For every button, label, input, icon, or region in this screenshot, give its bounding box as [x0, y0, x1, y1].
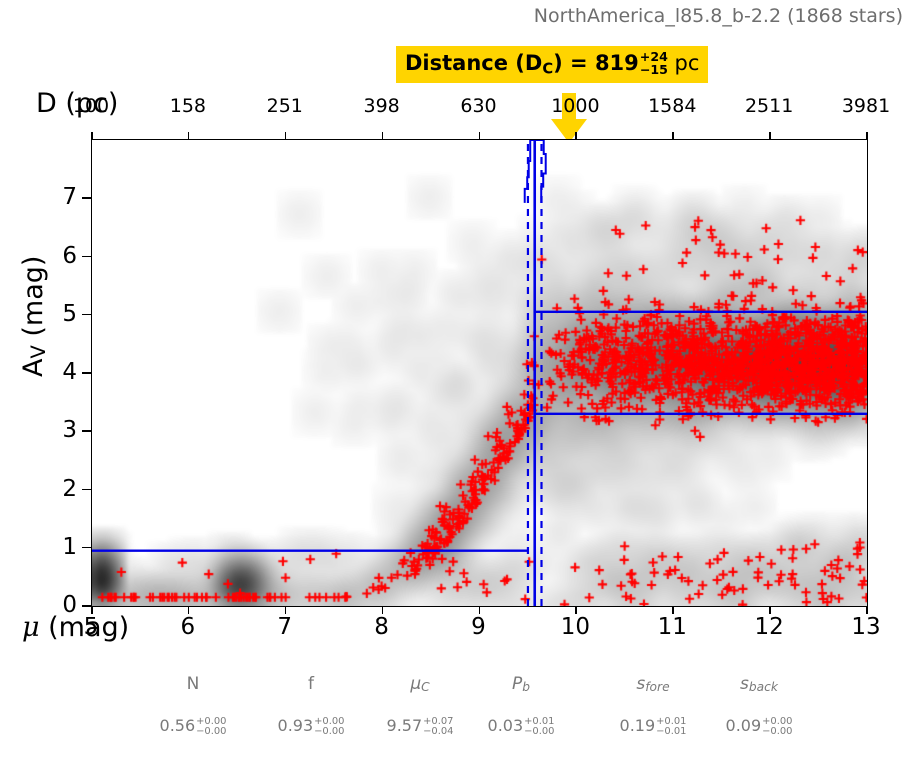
stats-value-error: +0.01−0.01 — [656, 717, 686, 737]
x-tick-label: 9 — [471, 614, 486, 640]
stats-value-number: 0.56 — [160, 716, 196, 735]
callout-prefix: Distance (D — [405, 51, 542, 75]
stats-header-symbol: μ — [410, 674, 421, 694]
callout-unit: pc — [668, 51, 700, 75]
stats-header-N: N — [187, 674, 200, 694]
stats-value-N: 0.56+0.00−0.00 — [160, 716, 227, 737]
x-tick-label: 7 — [277, 614, 292, 640]
stats-value-error: +0.00−0.00 — [196, 717, 226, 737]
stats-header-μ_C: μC — [410, 674, 429, 694]
star-markers — [92, 140, 867, 606]
stats-header-symbol: s — [740, 674, 749, 694]
stats-value-number: 0.93 — [278, 716, 314, 735]
x-tick-label: 10 — [561, 614, 590, 640]
x-tick-label: 11 — [658, 614, 687, 640]
x-tick-label: 6 — [181, 614, 196, 640]
stats-header-subscript: back — [749, 680, 778, 694]
figure-title: NorthAmerica_l85.8_b-2.2 (1868 stars) — [534, 5, 903, 27]
stats-value-error: +0.00−0.00 — [762, 717, 792, 737]
stats-header-symbol: P — [512, 674, 522, 694]
stats-header-symbol: f — [308, 674, 314, 694]
stats-table: NfμCPbsforesback 0.56+0.00−0.000.93+0.00… — [0, 668, 915, 759]
callout-error-minus: −15 — [640, 64, 668, 77]
stats-value-number: 0.09 — [726, 716, 762, 735]
stats-value-error-minus: −0.00 — [314, 727, 344, 737]
y-tick-label: 4 — [55, 359, 77, 385]
stats-value-s_fore: 0.19+0.01−0.01 — [620, 716, 687, 737]
d-tick-label: 1584 — [648, 95, 696, 117]
x-tick-label: 13 — [851, 614, 880, 640]
stats-header-f: f — [308, 674, 314, 694]
stats-value-error-minus: −0.04 — [423, 727, 453, 737]
callout-subscript: C — [542, 60, 553, 77]
stats-value-f: 0.93+0.00−0.00 — [278, 716, 345, 737]
y-tick — [82, 605, 91, 607]
stats-value-error-minus: −0.00 — [196, 727, 226, 737]
y-tick-label: 1 — [55, 534, 77, 560]
y-tick — [82, 547, 91, 549]
callout-equals: ) = — [553, 51, 595, 75]
d-tick-label: 2511 — [745, 95, 793, 117]
stats-value-number: 9.57 — [387, 716, 423, 735]
figure-root: NorthAmerica_l85.8_b-2.2 (1868 stars) Di… — [0, 0, 915, 759]
left-axis-label-subscript: V — [27, 345, 50, 358]
d-tick-label: 158 — [170, 95, 206, 117]
stats-value-error: +0.01−0.00 — [524, 717, 554, 737]
callout-error: +24−15 — [640, 51, 668, 77]
stats-value-error-minus: −0.01 — [656, 727, 686, 737]
d-tick-label: 100 — [73, 95, 109, 117]
left-axis-label-symbol: A — [18, 358, 49, 376]
callout-value: 819 — [595, 51, 639, 75]
y-tick-label: 3 — [55, 417, 77, 443]
y-tick-label: 0 — [55, 592, 77, 618]
y-tick-label: 2 — [55, 476, 77, 502]
stats-header-P_b: Pb — [512, 674, 530, 694]
y-tick — [82, 256, 91, 258]
y-tick-label: 5 — [55, 301, 77, 327]
x-tick-label: 5 — [84, 614, 99, 640]
y-tick — [82, 314, 91, 316]
stats-header-subscript: fore — [645, 680, 669, 694]
stats-header-subscript: b — [522, 680, 530, 694]
stats-value-error-minus: −0.00 — [762, 727, 792, 737]
stats-value-number: 0.03 — [488, 716, 524, 735]
d-tick-label: 1000 — [551, 95, 599, 117]
stats-header-subscript: C — [421, 680, 430, 694]
y-tick-label: 7 — [55, 184, 77, 210]
stats-header-s_back: sback — [740, 674, 778, 694]
y-tick — [82, 372, 91, 374]
d-tick-label: 251 — [267, 95, 303, 117]
stats-value-μ_C: 9.57+0.07−0.04 — [387, 716, 454, 737]
stats-header-s_fore: sfore — [636, 674, 669, 694]
d-tick-label: 398 — [363, 95, 399, 117]
distance-callout: Distance (DC) = 819+24−15 pc — [396, 46, 708, 83]
d-tick-label: 630 — [460, 95, 496, 117]
stats-value-P_b: 0.03+0.01−0.00 — [488, 716, 555, 737]
left-axis-label-unit: (mag) — [18, 256, 49, 346]
y-tick — [82, 489, 91, 491]
d-tick-label: 3981 — [842, 95, 890, 117]
stats-value-error-minus: −0.00 — [524, 727, 554, 737]
stats-value-error: +0.07−0.04 — [423, 717, 453, 737]
plot-area — [91, 139, 868, 607]
x-tick-label: 12 — [754, 614, 783, 640]
stats-value-error: +0.00−0.00 — [314, 717, 344, 737]
y-tick — [82, 197, 91, 199]
stats-header-symbol: N — [187, 674, 200, 694]
stats-header-symbol: s — [636, 674, 645, 694]
stats-value-number: 0.19 — [620, 716, 656, 735]
y-tick-label: 6 — [55, 243, 77, 269]
x-tick-label: 8 — [374, 614, 389, 640]
y-tick — [82, 430, 91, 432]
stats-value-s_back: 0.09+0.00−0.00 — [726, 716, 793, 737]
bottom-axis-label-symbol: μ — [22, 612, 40, 643]
left-axis-label: AV (mag) — [18, 216, 50, 416]
